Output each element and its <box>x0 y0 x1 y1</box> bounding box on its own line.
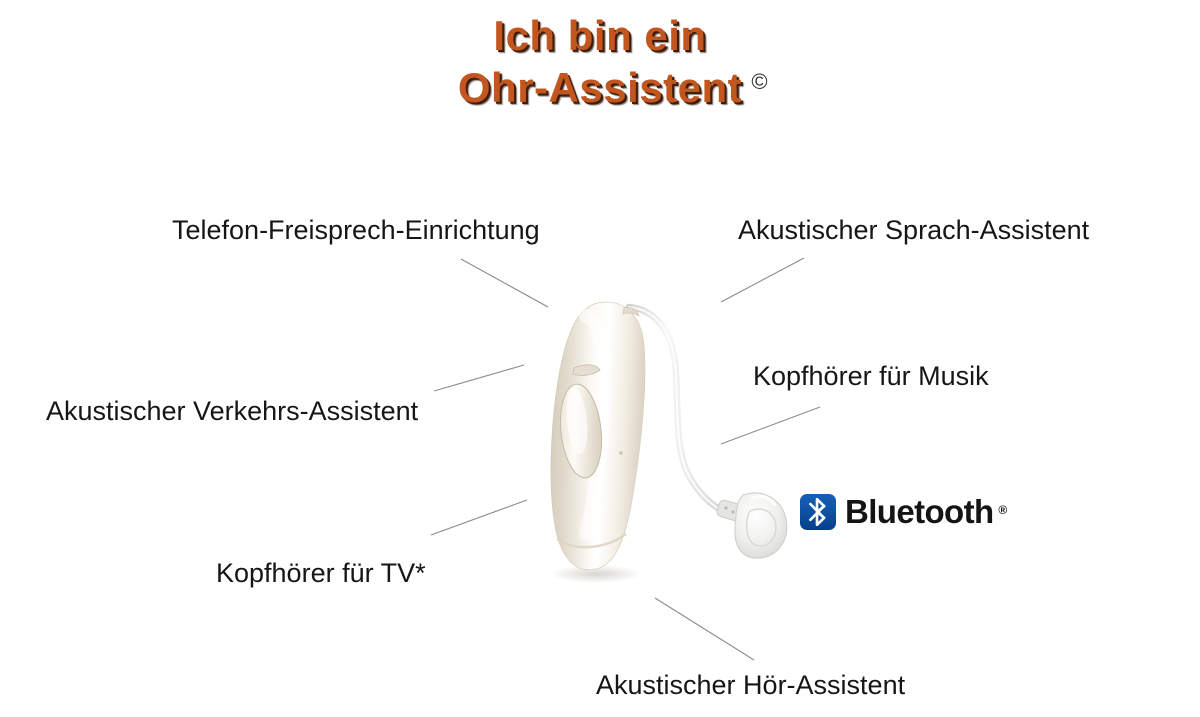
leader-line-tv <box>431 500 527 535</box>
bluetooth-icon <box>800 494 836 530</box>
registered-trademark-symbol: ® <box>998 493 1006 527</box>
device-indicator-dot <box>619 451 623 455</box>
callout-label-telefon-freisprech-einrichtung: Telefon-Freisprech-Einrichtung <box>172 214 540 246</box>
hearing-aid-illustration <box>528 288 828 588</box>
callout-label-kopfhoerer-fuer-tv: Kopfhörer für TV* <box>216 557 426 589</box>
bluetooth-wordmark-text: Bluetooth <box>845 493 994 530</box>
callout-label-akustischer-hoer-assistent: Akustischer Hör-Assistent <box>596 669 905 701</box>
bluetooth-wordmark-wrap: Bluetooth ® <box>845 495 994 529</box>
leader-line-verkehr <box>434 365 524 391</box>
callout-label-kopfhoerer-fuer-musik: Kopfhörer für Musik <box>753 360 989 392</box>
callout-label-akustischer-verkehrs-assistent: Akustischer Verkehrs-Assistent <box>46 395 418 427</box>
bluetooth-rune-glyph <box>808 498 828 526</box>
leader-line-hoer <box>655 598 754 660</box>
bluetooth-logo: Bluetooth ® <box>800 491 994 533</box>
callout-label-akustischer-sprach-assistent: Akustischer Sprach-Assistent <box>738 214 1089 246</box>
poster-canvas: Ich bin ein Ohr-Assistent © <box>0 0 1200 717</box>
device-ear-dome <box>735 493 787 558</box>
